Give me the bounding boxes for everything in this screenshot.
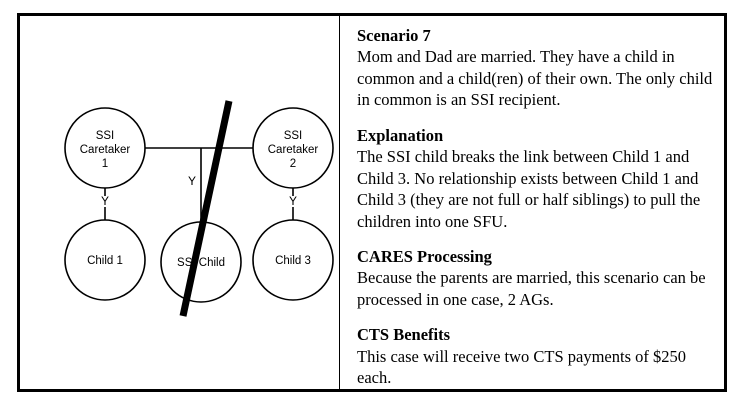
edge-label-y-center: Y [188,174,196,188]
explanation-heading: Explanation [357,125,717,146]
edge-label-y-left: Y [101,194,109,208]
scenario-text-panel: Scenario 7 Mom and Dad are married. They… [345,16,723,389]
cares-processing-body: Because the parents are married, this sc… [357,267,717,310]
section-gap [357,232,717,246]
edge-label-y-right: Y [289,194,297,208]
node-label-ssi-caretaker-2-line-3: 2 [290,158,296,170]
node-label-ssi-child: SSI Child [177,257,225,269]
page-root: SSI Caretaker 1 SSI Caretaker 2 Child 1 … [0,0,750,412]
cts-benefits-body: This case will receive two CTS payments … [357,346,717,389]
scenario-body: Mom and Dad are married. They have a chi… [357,46,717,110]
cts-benefits-heading: CTS Benefits [357,324,717,345]
family-tree-svg: SSI Caretaker 1 SSI Caretaker 2 Child 1 … [20,16,339,389]
node-label-child-3: Child 3 [275,255,311,267]
scenario-heading: Scenario 7 [357,25,717,46]
family-tree-diagram: SSI Caretaker 1 SSI Caretaker 2 Child 1 … [20,16,339,389]
node-label-ssi-caretaker-1-line-3: 1 [102,158,108,170]
scenario-card-frame: SSI Caretaker 1 SSI Caretaker 2 Child 1 … [17,13,727,392]
cares-processing-heading: CARES Processing [357,246,717,267]
explanation-body: The SSI child breaks the link between Ch… [357,146,717,232]
section-gap [357,310,717,324]
node-label-ssi-caretaker-1-line-1: SSI [96,130,115,142]
panel-divider [339,16,340,389]
section-gap [357,111,717,125]
node-label-child-1: Child 1 [87,255,123,267]
node-label-ssi-caretaker-2-line-1: SSI [284,130,303,142]
node-label-ssi-caretaker-2-line-2: Caretaker [268,144,319,156]
node-label-ssi-caretaker-1-line-2: Caretaker [80,144,131,156]
